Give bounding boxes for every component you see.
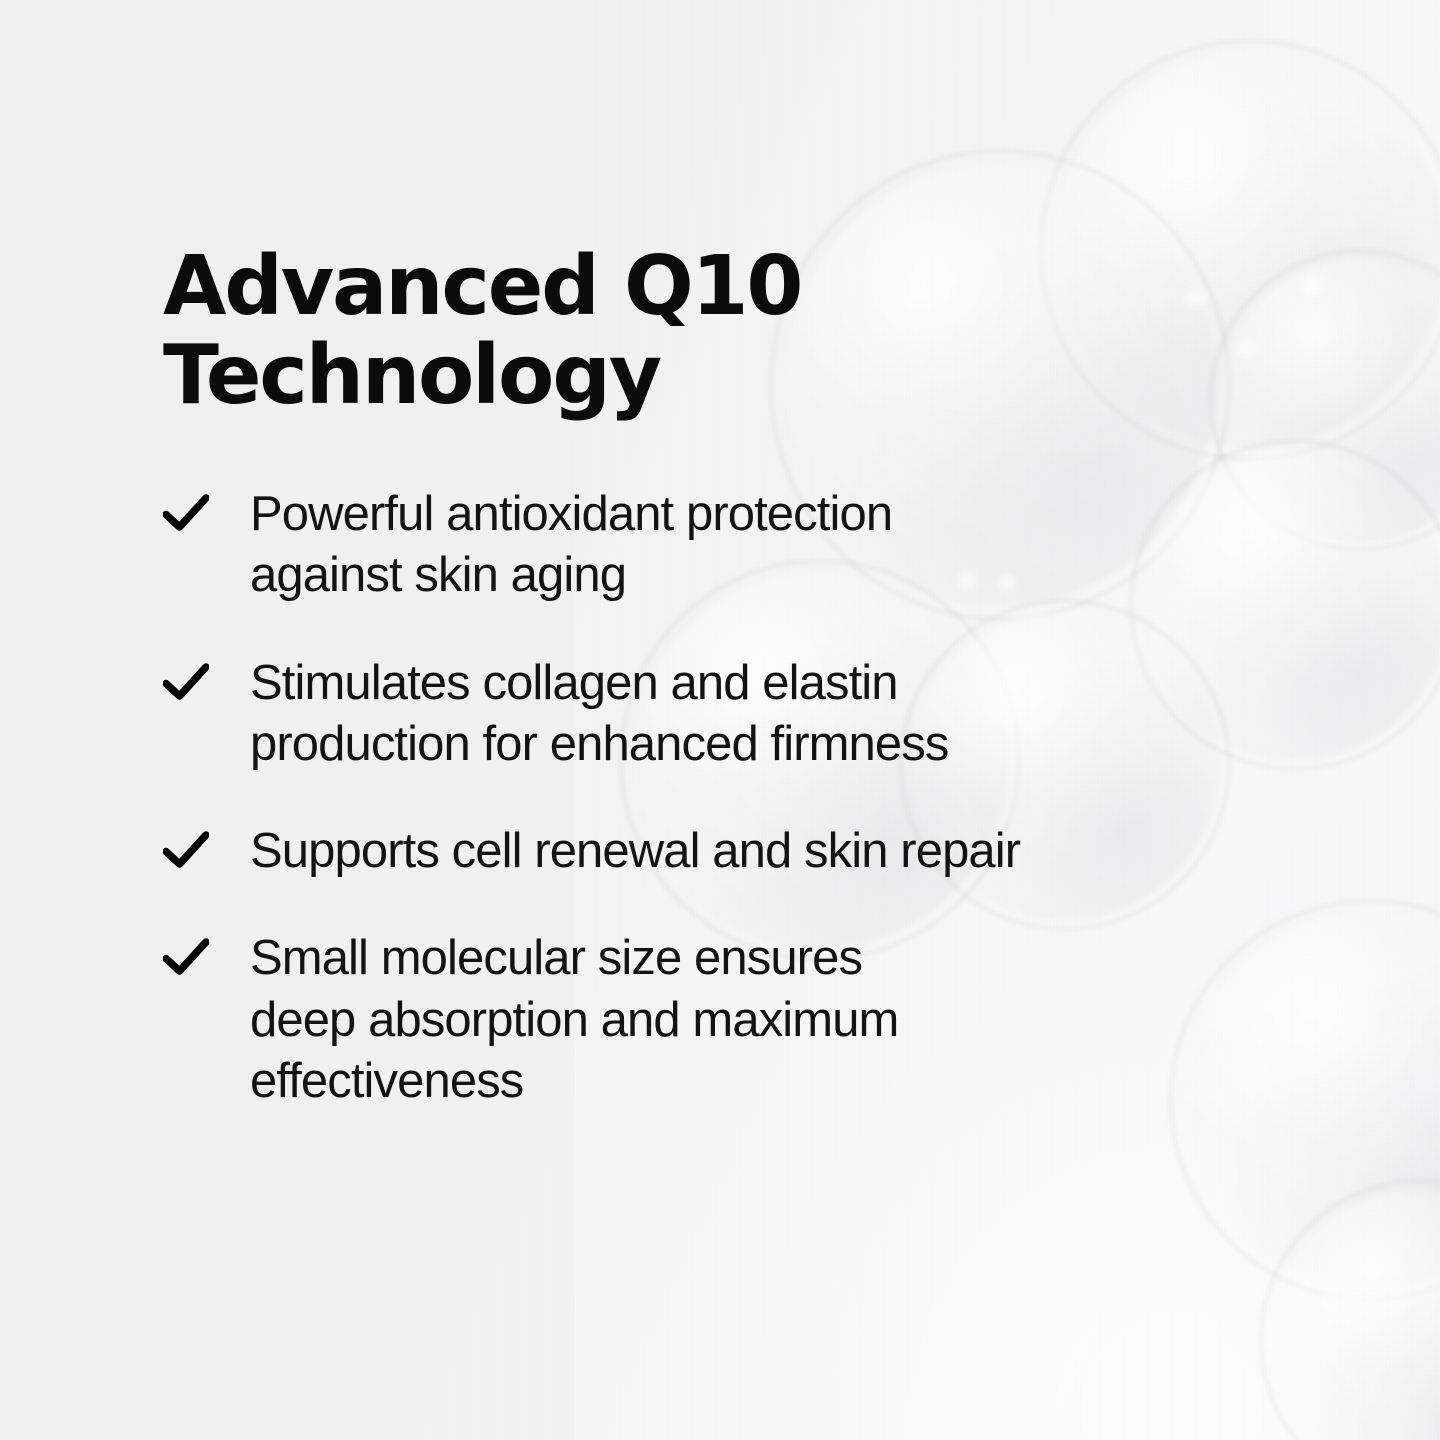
feature-list: Powerful antioxidant protection against … [163,484,1283,1112]
check-icon [163,830,209,870]
content-layer: Advanced Q10 Technology Powerful antioxi… [0,0,1440,1440]
list-item: Small molecular size ensures deep absorp… [163,928,1283,1112]
feature-text: Small molecular size ensures deep absorp… [250,928,1283,1112]
product-feature-card: Advanced Q10 Technology Powerful antioxi… [0,0,1440,1440]
feature-text: Powerful antioxidant protection against … [250,484,1283,607]
list-item: Supports cell renewal and skin repair [163,821,1283,882]
check-icon [163,937,209,977]
check-icon [163,493,209,533]
list-item: Powerful antioxidant protection against … [163,484,1283,607]
feature-text: Supports cell renewal and skin repair [250,821,1283,882]
feature-text: Stimulates collagen and elastin producti… [250,653,1283,776]
list-item: Stimulates collagen and elastin producti… [163,653,1283,776]
check-icon [163,662,209,702]
page-title: Advanced Q10 Technology [163,243,943,420]
